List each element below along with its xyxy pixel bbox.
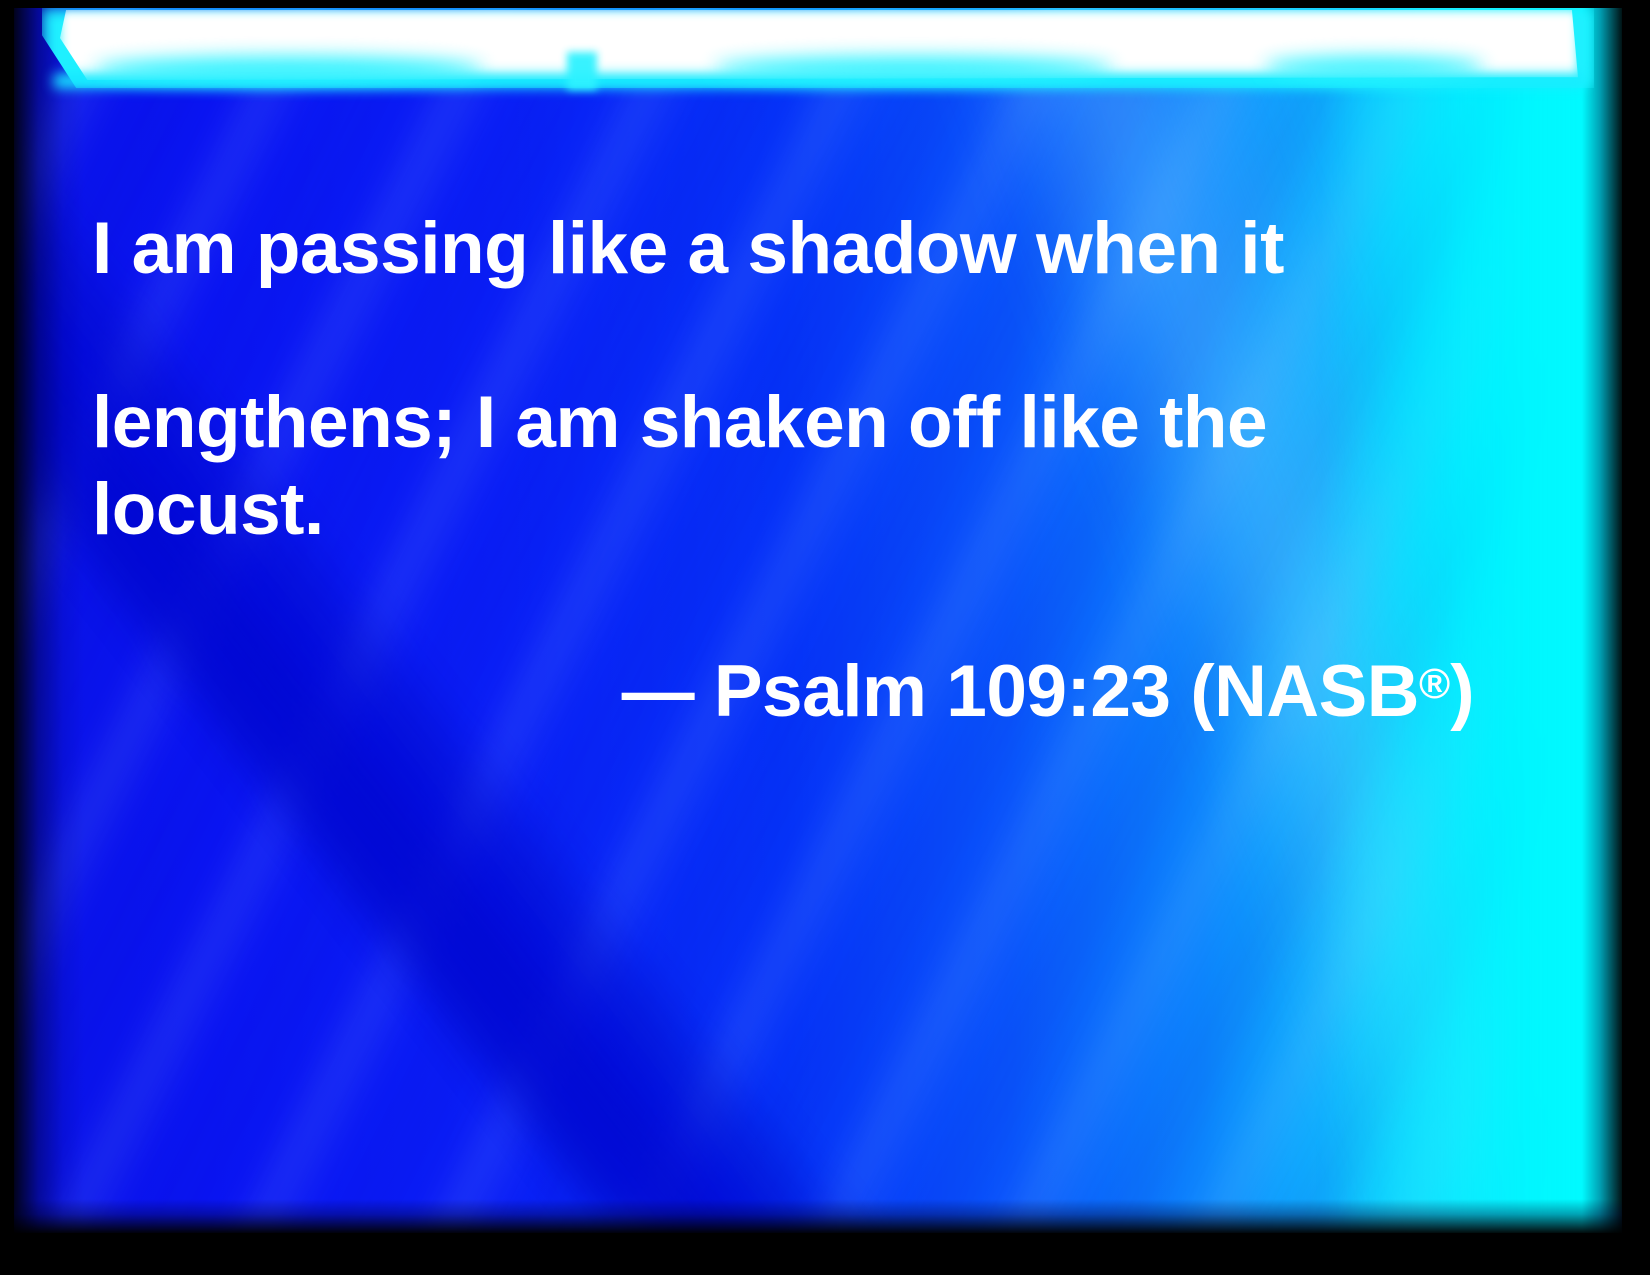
- verse-attribution: — Psalm 109:23 (NASB®): [92, 640, 1492, 735]
- registered-trademark-icon: ®: [1419, 660, 1450, 707]
- verse-slide: I am passing like a shadow when it lengt…: [0, 0, 1650, 1275]
- attribution-dash: —: [622, 651, 695, 732]
- attribution-translation-open: (NASB: [1190, 651, 1419, 732]
- top-light-bar-highlight-right: [1264, 56, 1484, 78]
- verse-line-1: I am passing like a shadow when it: [92, 205, 1492, 292]
- frame-top-edge: [0, 0, 1650, 8]
- frame-left-edge: [0, 0, 14, 1275]
- top-light-bar-notch: [567, 52, 597, 90]
- attribution-reference: Psalm 109:23: [714, 651, 1171, 732]
- background-bottom-vignette: [14, 1199, 1622, 1233]
- top-light-bar-highlight-left: [94, 56, 484, 82]
- verse-line-2: lengthens; I am shaken off like the locu…: [92, 379, 1492, 553]
- frame-bottom-edge: [0, 1233, 1650, 1275]
- verse-text-block: I am passing like a shadow when it lengt…: [92, 118, 1492, 822]
- top-light-bar-highlight-center: [714, 56, 1114, 80]
- background-left-vignette: [14, 8, 84, 1233]
- top-light-bar: [14, 8, 1622, 118]
- background-right-vignette: [1582, 8, 1622, 1233]
- frame-right-edge: [1622, 0, 1650, 1275]
- attribution-translation-close: ): [1450, 651, 1474, 732]
